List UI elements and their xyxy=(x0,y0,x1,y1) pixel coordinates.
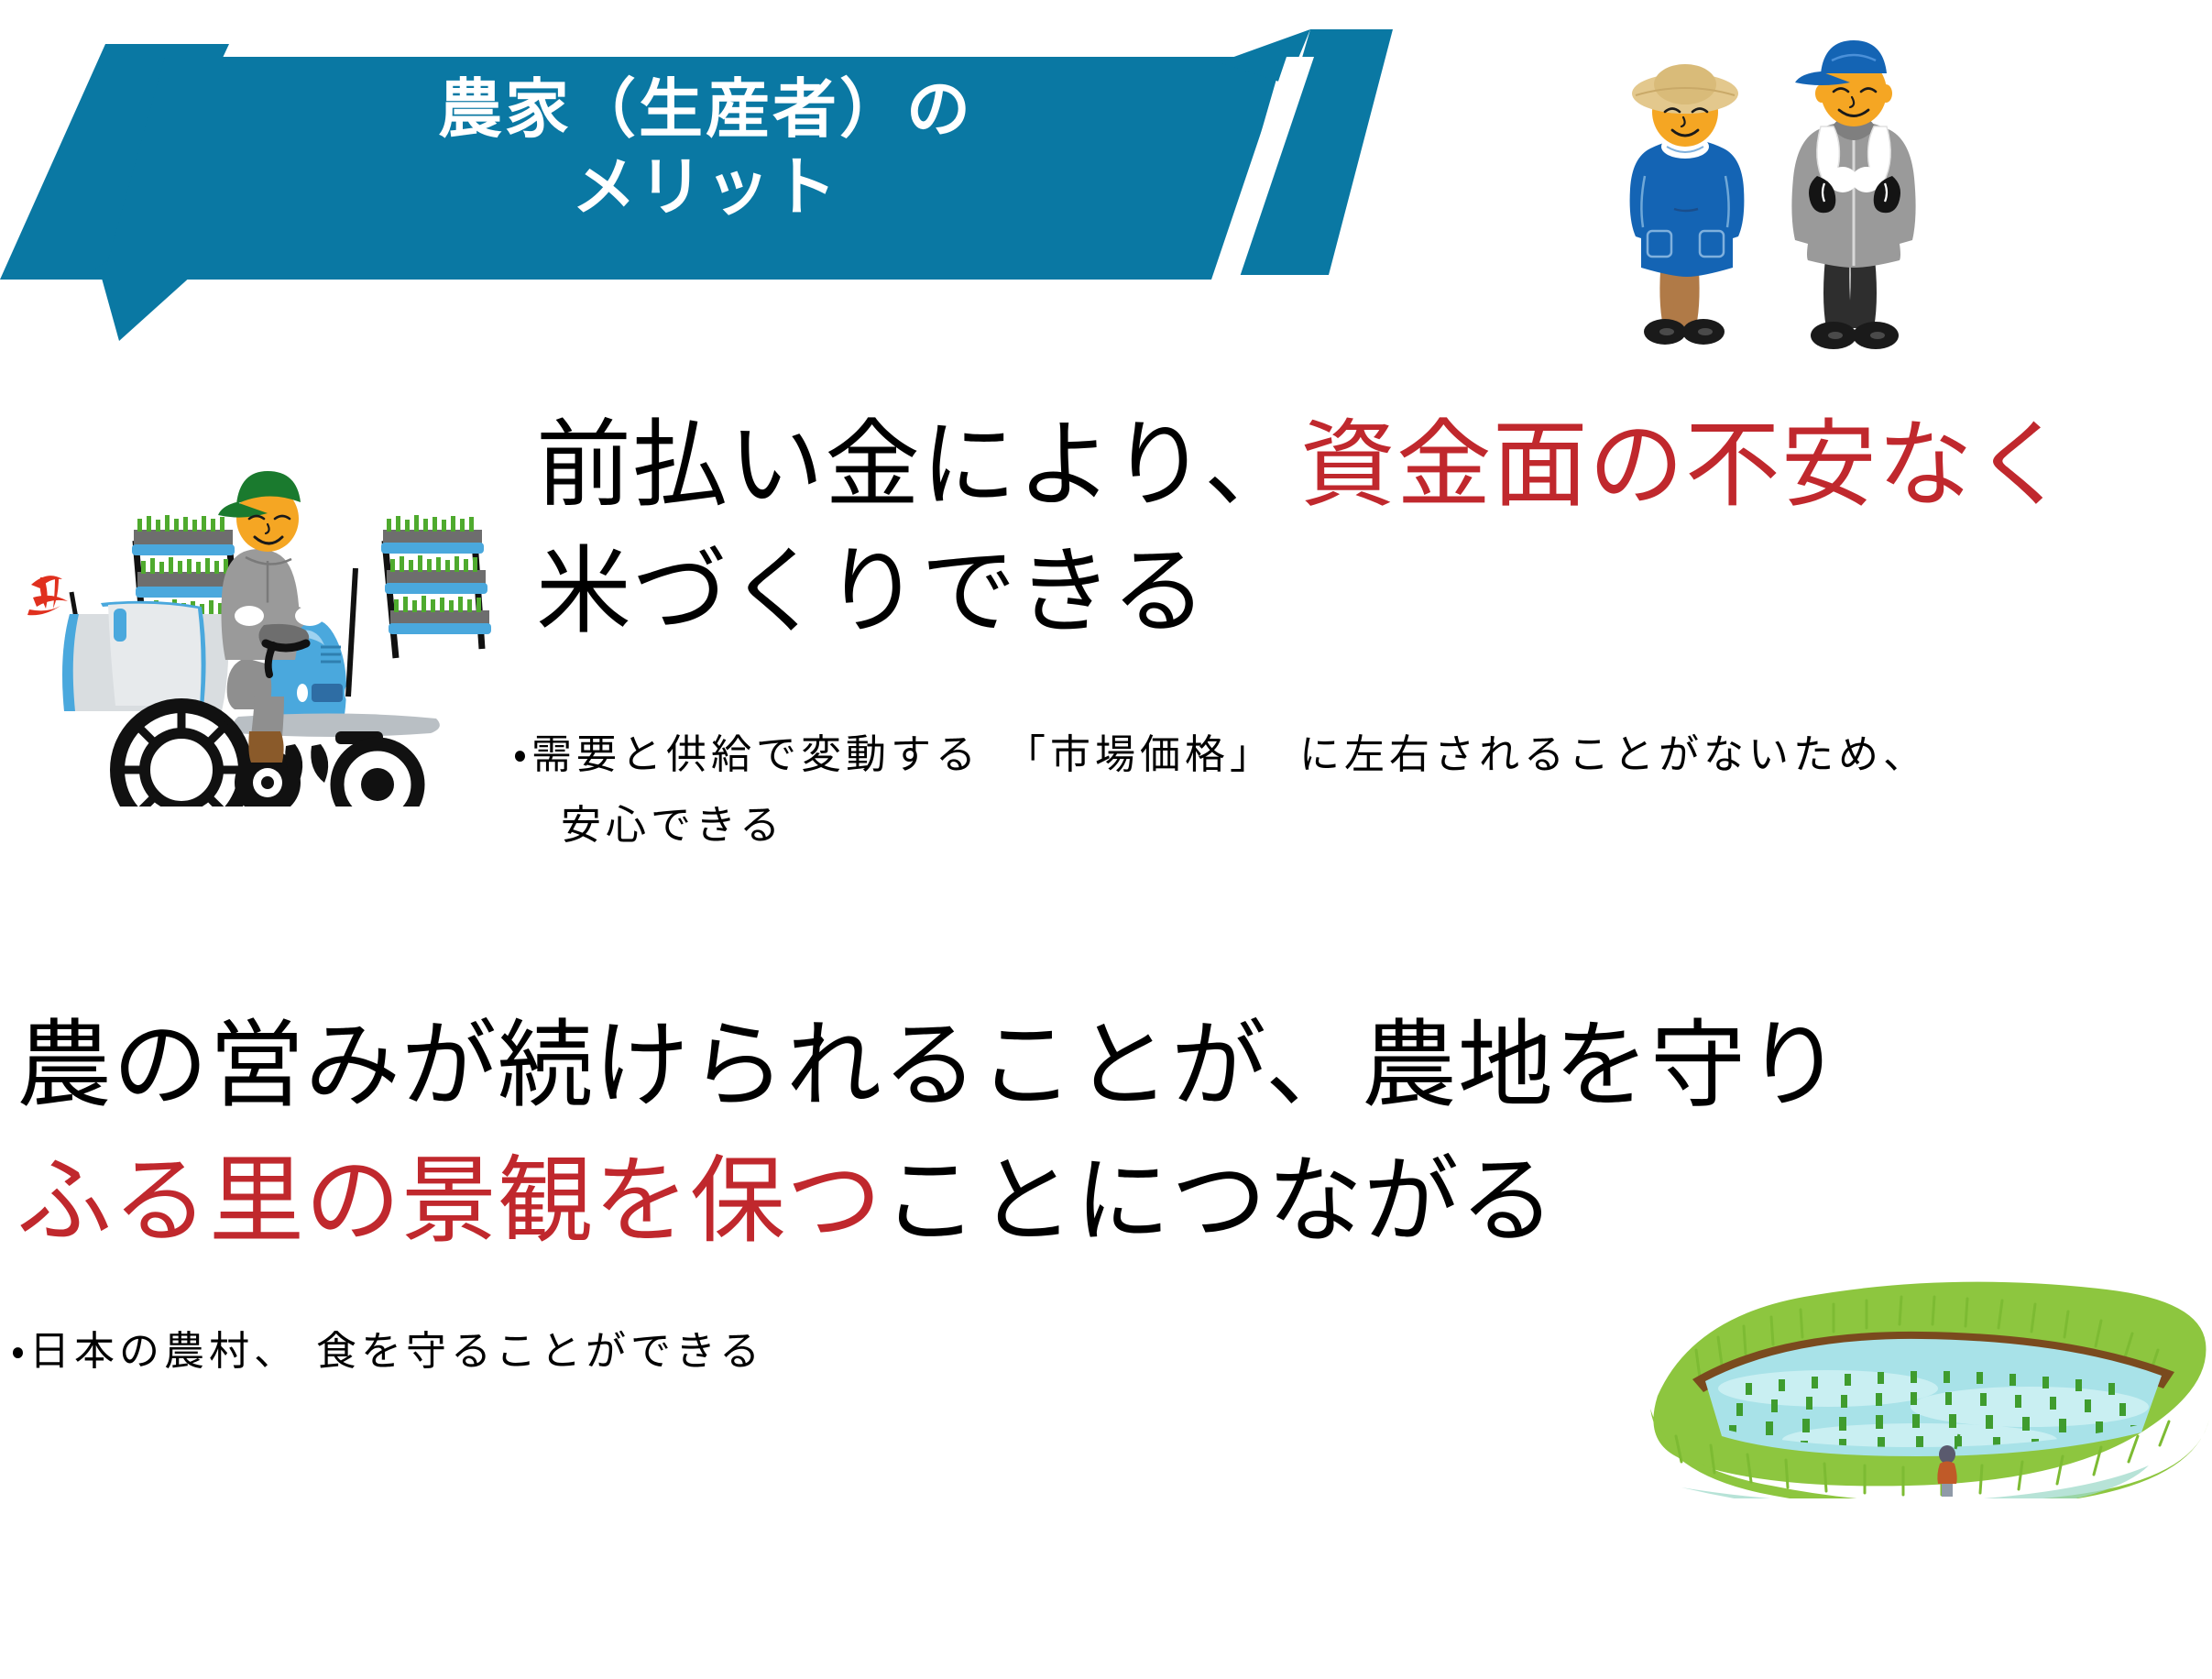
section2-heading-line1: 農の営みが続けられることが、農地を守り xyxy=(16,999,2179,1135)
farmer-left-figure xyxy=(1630,64,1745,345)
farmer-right-figure xyxy=(1791,40,1915,349)
rice-paddy-illustration xyxy=(1645,1269,2212,1498)
section1-heading-line2: 米づくりできる xyxy=(536,530,2195,656)
section1-heading-line1: 前払い金により、資金面の不安なく xyxy=(536,403,2195,530)
rice-planting-machine-illustration xyxy=(18,422,504,807)
section-farming-finance: 前払い金により、資金面の不安なく 米づくりできる ・需要と供給で変動する 「市場… xyxy=(0,394,2212,880)
section1-heading-line1-black: 前払い金により、 xyxy=(536,413,1300,519)
banner-ribbon: 農家（生産者）の メリット xyxy=(0,0,1393,367)
rice-paddy-icon xyxy=(1645,1269,2212,1498)
section2-heading-line2-black: ことにつながる xyxy=(882,1149,1556,1255)
section1-heading: 前払い金により、資金面の不安なく 米づくりできる xyxy=(536,403,2195,657)
planter-drive-wheel xyxy=(117,706,246,807)
banner-ribbon-shape xyxy=(0,0,1393,367)
section2-heading-line2: ふる里の景観を保つことにつながる xyxy=(16,1135,2179,1270)
red-flag-icon xyxy=(27,576,68,615)
section1-bullet-line1: ・需要と供給で変動する 「市場価格」 に左右されることがないため、 xyxy=(513,731,1928,778)
section2-heading: 農の営みが続けられることが、農地を守り ふる里の景観を保つことにつながる xyxy=(16,999,2179,1269)
section1-bullet: ・需要と供給で変動する 「市場価格」 に左右されることがないため、 安心できる xyxy=(513,719,2153,861)
seedling-rack-right xyxy=(381,515,491,658)
rice-planting-machine-icon xyxy=(18,422,504,807)
section2-bullet-line1: ・日本の農村、 食を守ることができる xyxy=(11,1328,764,1375)
section2-heading-line2-red: ふる里の景観を保つ xyxy=(16,1149,882,1255)
two-farmers-icon xyxy=(1608,13,1975,398)
section1-heading-line1-red: 資金面の不安なく xyxy=(1300,413,2070,519)
section1-bullet-line2: 安心できる xyxy=(513,790,2153,861)
section2-bullet: ・日本の農村、 食を守ることができる xyxy=(11,1320,1569,1384)
two-farmers-illustration xyxy=(1608,13,1975,398)
